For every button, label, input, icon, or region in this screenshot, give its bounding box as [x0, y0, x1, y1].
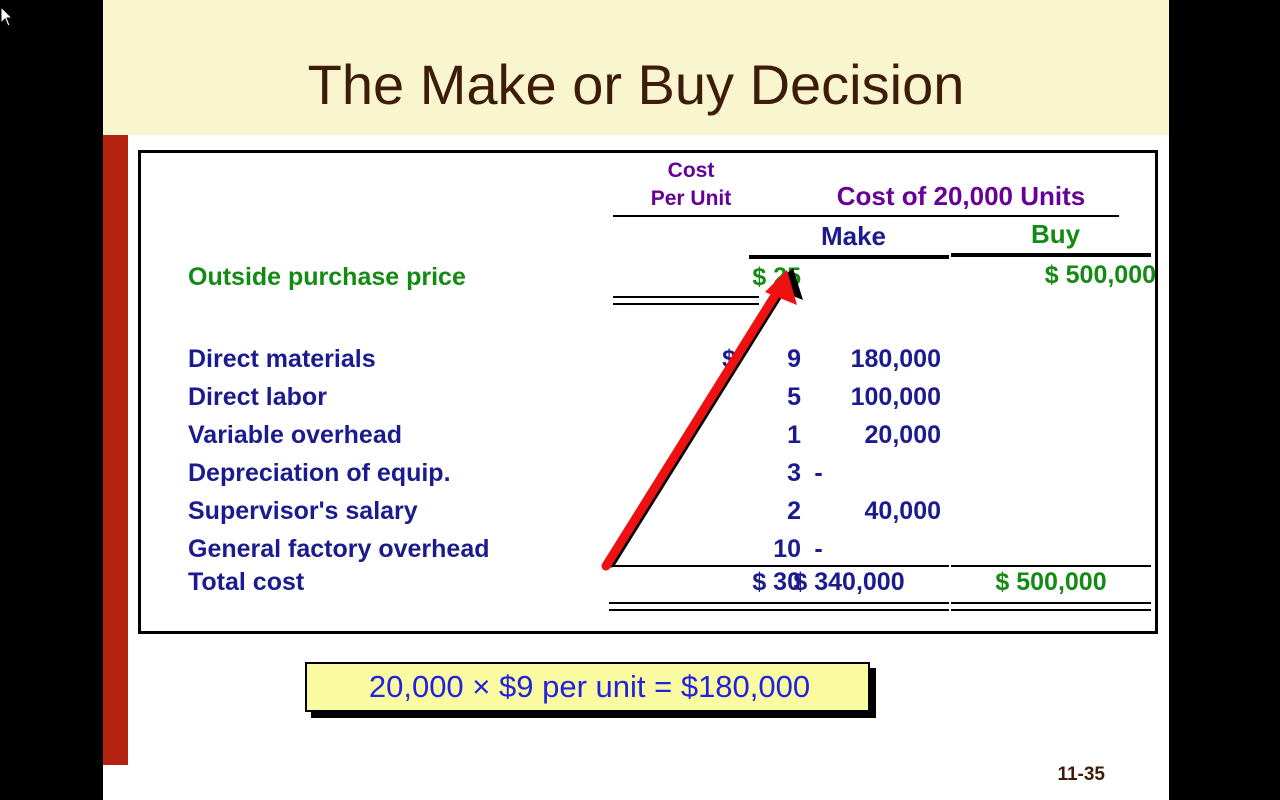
row-label-total-cost: Total cost	[188, 568, 304, 597]
callout-box: 20,000 × $9 per unit = $180,000	[305, 662, 870, 712]
rule-outside-per-unit-bottom	[613, 303, 759, 305]
rule-total-per-unit-top	[609, 565, 759, 567]
direct-materials-make: 180,000	[741, 345, 941, 374]
rule-under-cost-of-units	[749, 215, 1119, 217]
outside-purchase-price-buy: $ 500,000	[941, 261, 1156, 290]
header-buy: Buy	[953, 219, 1158, 250]
rule-total-buy-top	[951, 565, 1151, 567]
row-label-general-factory-overhead: General factory overhead	[188, 535, 490, 564]
presentation-slide: The Make or Buy Decision Cost Per Unit C…	[103, 0, 1169, 800]
row-label-direct-labor: Direct labor	[188, 383, 327, 412]
make-or-buy-table: Cost Per Unit Cost of 20,000 Units Make …	[138, 150, 1158, 634]
page-number: 11-35	[1057, 764, 1105, 786]
rule-total-make-bottom-2	[749, 609, 949, 611]
row-label-depreciation-of-equip: Depreciation of equip.	[188, 459, 451, 488]
header-cost-of-units: Cost of 20,000 Units	[761, 181, 1161, 212]
header-make: Make	[751, 221, 956, 252]
rule-total-per-unit-bottom-2	[609, 609, 759, 611]
total-cost-buy: $ 500,000	[951, 568, 1151, 597]
rule-under-make	[749, 255, 949, 259]
row-label-supervisors-salary: Supervisor's salary	[188, 497, 418, 526]
screen-canvas: The Make or Buy Decision Cost Per Unit C…	[0, 0, 1280, 800]
rule-total-buy-bottom-2	[951, 609, 1151, 611]
supervisors-salary-make: 40,000	[741, 497, 941, 526]
rule-total-buy-bottom-1	[951, 602, 1151, 604]
rule-under-buy	[951, 253, 1151, 257]
left-accent-bar	[103, 135, 128, 765]
direct-labor-make: 100,000	[741, 383, 941, 412]
mouse-cursor-icon	[0, 6, 14, 28]
rule-total-make-bottom-1	[749, 602, 949, 604]
outside-purchase-price-per-unit: $ 25	[596, 263, 801, 292]
row-label-variable-overhead: Variable overhead	[188, 421, 402, 450]
row-label-direct-materials: Direct materials	[188, 345, 376, 374]
total-cost-make: $ 340,000	[749, 568, 949, 597]
depreciation-make: -	[741, 459, 896, 488]
rule-under-per-unit	[613, 215, 759, 217]
header-cost-line1: Cost	[631, 159, 751, 183]
general-factory-overhead-make: -	[741, 535, 896, 564]
header-cost-per-unit: Per Unit	[611, 187, 771, 211]
rule-total-per-unit-bottom-1	[609, 602, 759, 604]
rule-total-make-top	[749, 565, 949, 567]
page-title: The Make or Buy Decision	[103, 56, 1169, 114]
rule-outside-per-unit-top	[613, 296, 759, 298]
variable-overhead-make: 20,000	[741, 421, 941, 450]
callout-text: 20,000 × $9 per unit = $180,000	[307, 669, 872, 705]
row-label-outside-purchase-price: Outside purchase price	[188, 263, 466, 292]
